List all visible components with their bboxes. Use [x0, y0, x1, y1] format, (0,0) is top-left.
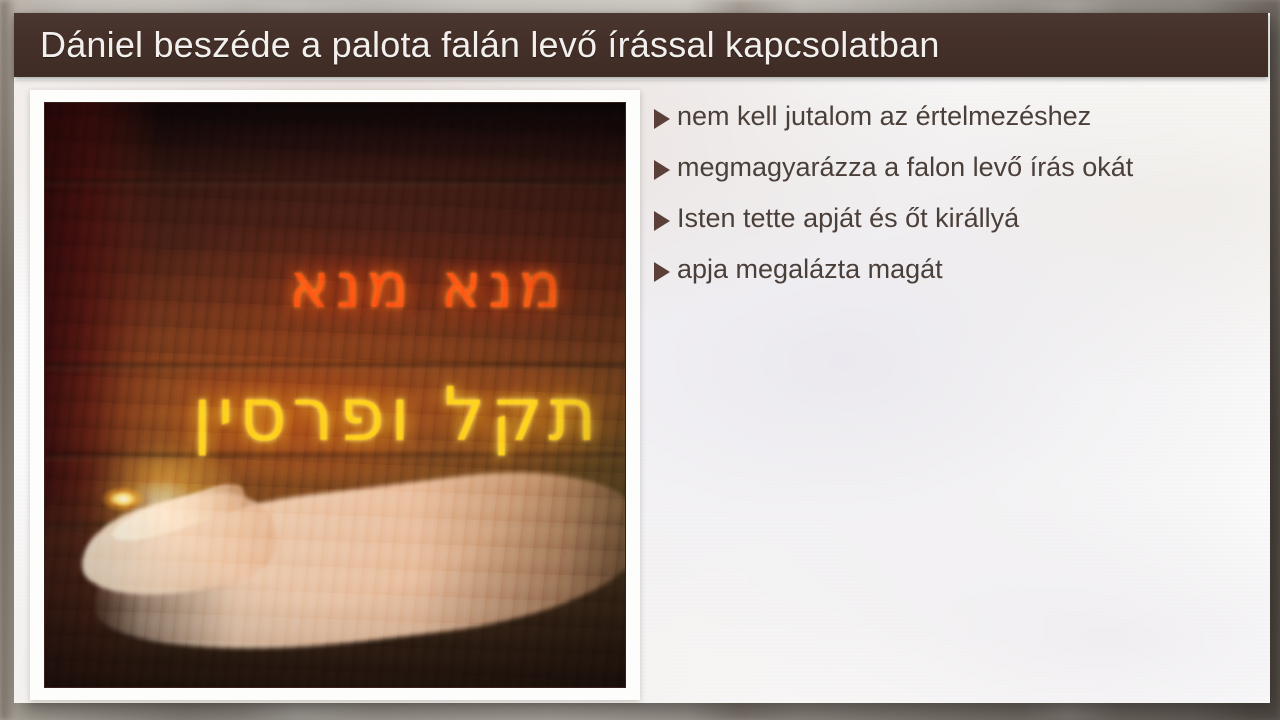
page-title: Dániel beszéde a palota falán levő íráss…	[40, 24, 940, 66]
list-item: Isten tette apját és őt királlyá	[654, 203, 1254, 235]
triangle-right-icon	[654, 262, 670, 282]
bullet-text: Isten tette apját és őt királlyá	[677, 203, 1019, 235]
photo-wall-texture	[45, 103, 625, 687]
list-item: nem kell jutalom az értelmezéshez	[654, 101, 1254, 133]
triangle-right-icon	[654, 109, 670, 129]
wall-writing-photo: מנא מנא תקל ופרסין	[44, 102, 626, 688]
bullet-list: nem kell jutalom az értelmezéshez megmag…	[654, 101, 1254, 304]
slide-stage: Dániel beszéde a palota falán levő íráss…	[0, 0, 1280, 720]
bullet-text: nem kell jutalom az értelmezéshez	[677, 101, 1091, 133]
bullet-text: megmagyarázza a falon levő írás okát	[677, 152, 1133, 184]
presentation-slide: Dániel beszéde a palota falán levő íráss…	[14, 13, 1270, 703]
slide-title-bar: Dániel beszéde a palota falán levő íráss…	[14, 13, 1268, 77]
triangle-right-icon	[654, 211, 670, 231]
bullet-text: apja megalázta magát	[677, 254, 943, 286]
list-item: apja megalázta magát	[654, 254, 1254, 286]
triangle-right-icon	[654, 160, 670, 180]
list-item: megmagyarázza a falon levő írás okát	[654, 152, 1254, 184]
photo-frame: מנא מנא תקל ופרסין	[30, 90, 640, 700]
